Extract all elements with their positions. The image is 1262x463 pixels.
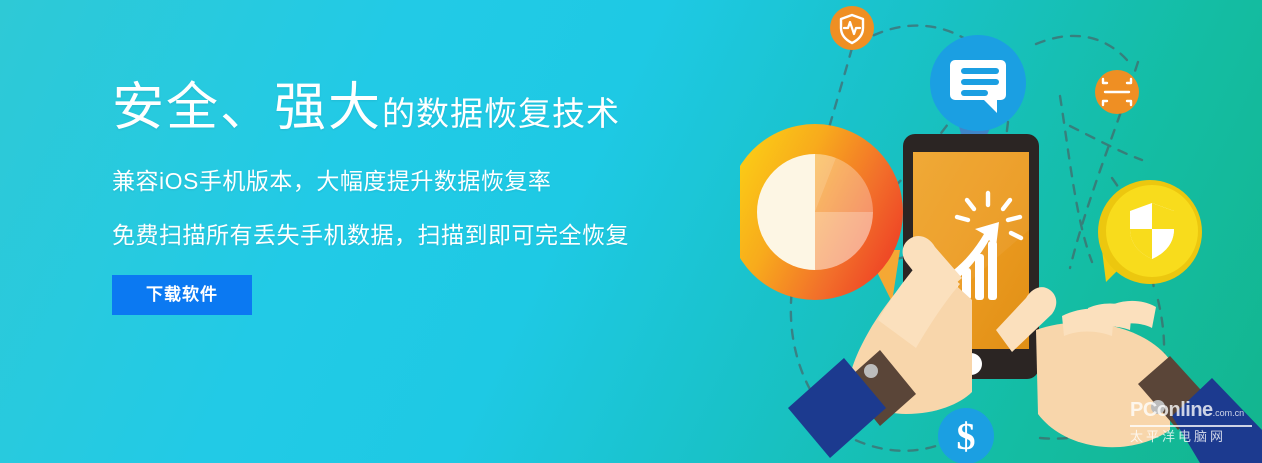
scan-frame-badge [1095, 70, 1139, 114]
subtitle-line-1: 兼容iOS手机版本，大幅度提升数据恢复率 [112, 168, 752, 196]
subtitle-line-2: 免费扫描所有丢失手机数据，扫描到即可完全恢复 [112, 222, 752, 250]
dollar-badge: $ [938, 408, 994, 463]
hero-illustration: $ [740, 0, 1262, 463]
headline-emphasis: 安全、强大 [112, 79, 382, 137]
svg-text:$: $ [957, 416, 976, 458]
shield-pulse-badge [830, 6, 874, 50]
copy-block: 安全、强大的数据恢复技术 兼容iOS手机版本，大幅度提升数据恢复率 免费扫描所有… [112, 82, 752, 315]
pie-chart-bubble [740, 124, 903, 302]
download-software-button[interactable]: 下载软件 [112, 275, 252, 315]
promo-banner: 安全、强大的数据恢复技术 兼容iOS手机版本，大幅度提升数据恢复率 免费扫描所有… [0, 0, 1262, 463]
page-title: 安全、强大的数据恢复技术 [112, 82, 752, 134]
shield-security-bubble [1098, 180, 1202, 284]
right-hand [996, 287, 1262, 463]
headline-rest: 的数据恢复技术 [382, 95, 620, 132]
right-sleeve [1138, 356, 1262, 463]
